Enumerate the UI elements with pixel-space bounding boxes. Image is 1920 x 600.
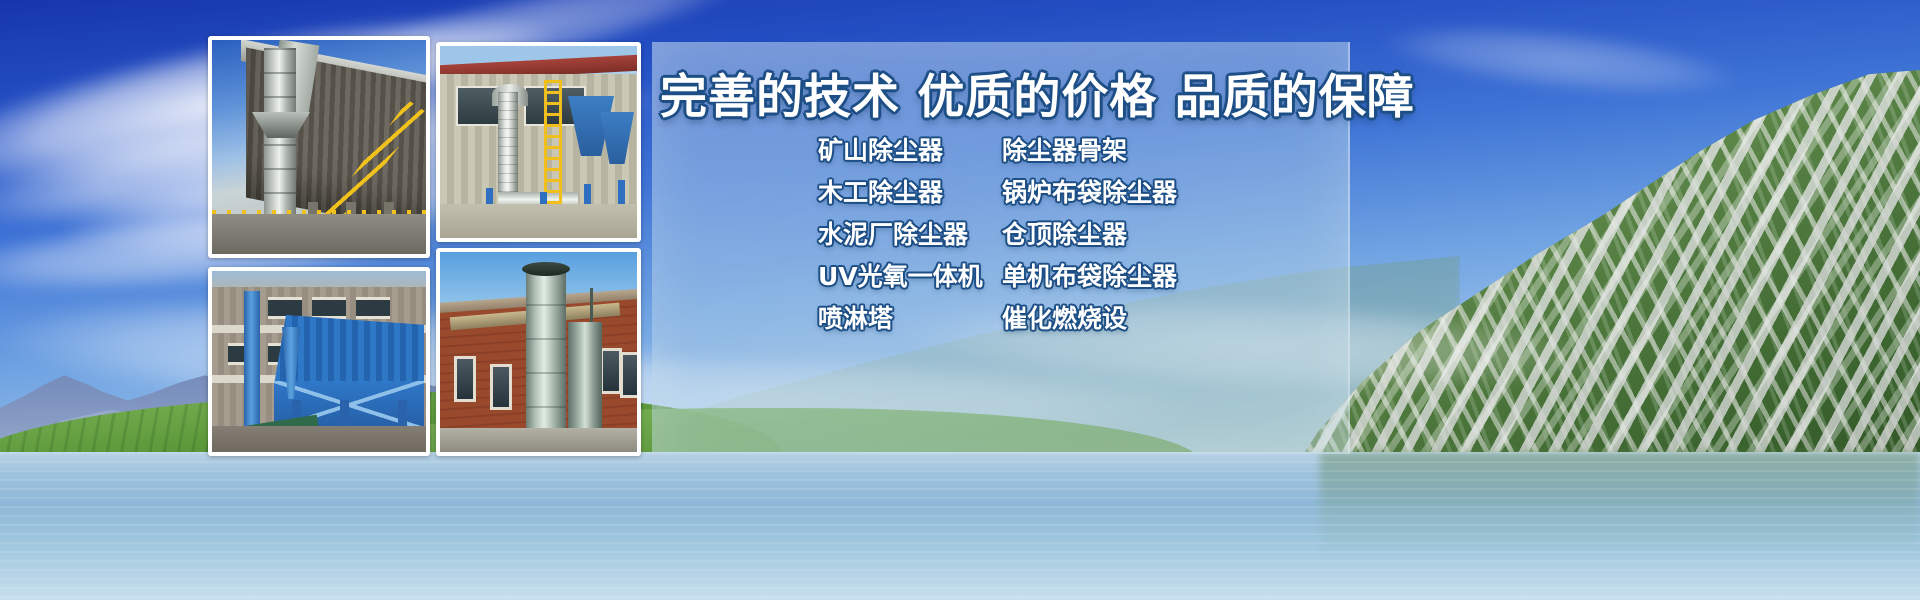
product-item[interactable]: 喷淋塔: [818, 299, 1002, 335]
product-item[interactable]: 矿山除尘器: [818, 131, 1002, 167]
product-row: 木工除尘器 锅炉布袋除尘器: [818, 170, 1338, 212]
lake-surface-sheen: [0, 452, 1920, 600]
photo-workshop-galvanised-ducting[interactable]: [436, 42, 641, 242]
product-item[interactable]: 仓顶除尘器: [1002, 215, 1127, 251]
product-item[interactable]: 单机布袋除尘器: [1002, 257, 1177, 293]
product-item[interactable]: 催化燃烧设: [1002, 299, 1127, 335]
product-item[interactable]: 除尘器骨架: [1002, 131, 1127, 167]
product-row: 矿山除尘器 除尘器骨架: [818, 128, 1338, 170]
product-row: UV光氧一体机 单机布袋除尘器: [818, 254, 1338, 296]
banner-headline: 完善的技术 优质的价格 品质的保障: [660, 58, 1360, 127]
photo-blue-dust-collector-brick-building[interactable]: [208, 267, 430, 456]
photo-bag-house-with-yellow-stairway[interactable]: [208, 36, 430, 258]
banner-stage: 完善的技术 优质的价格 品质的保障 矿山除尘器 除尘器骨架 木工除尘器 锅炉布袋…: [0, 0, 1920, 600]
product-item[interactable]: 水泥厂除尘器: [818, 215, 1002, 251]
product-row: 喷淋塔 催化燃烧设: [818, 296, 1338, 338]
product-photo-grid: [208, 36, 642, 456]
product-item[interactable]: 锅炉布袋除尘器: [1002, 173, 1177, 209]
product-item[interactable]: 木工除尘器: [818, 173, 1002, 209]
product-row: 水泥厂除尘器 仓顶除尘器: [818, 212, 1338, 254]
photo-brick-building-galvanised-scrubber-stack[interactable]: [436, 248, 641, 456]
product-list: 矿山除尘器 除尘器骨架 木工除尘器 锅炉布袋除尘器 水泥厂除尘器 仓顶除尘器 U…: [818, 128, 1338, 338]
product-item[interactable]: UV光氧一体机: [818, 257, 1002, 293]
